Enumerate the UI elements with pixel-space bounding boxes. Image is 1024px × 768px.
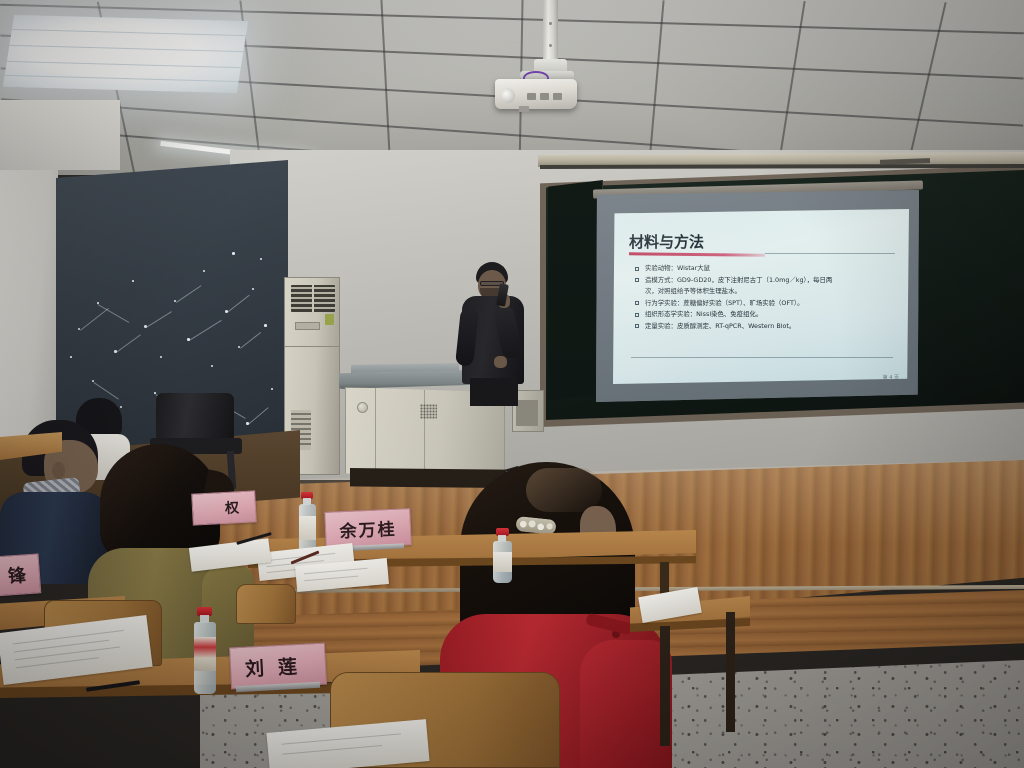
presenter-legs bbox=[470, 378, 518, 406]
placard-name: 刘莲 bbox=[244, 651, 311, 681]
ac-intake-grille bbox=[291, 285, 335, 312]
red-coat-arm bbox=[580, 640, 672, 768]
lecture-room-photo: 材料与方法 实验动物：Wistar大鼠 造模方式：GD9-GD20，皮下注射尼古… bbox=[0, 0, 1024, 768]
ear bbox=[52, 462, 65, 479]
bottle-label bbox=[194, 637, 216, 671]
ac-sticker bbox=[325, 314, 334, 325]
presentation-slide: 材料与方法 实验动物：Wistar大鼠 造模方式：GD9-GD20，皮下注射尼古… bbox=[613, 209, 909, 384]
placard-name: 余万桂 bbox=[339, 515, 397, 542]
lectern-speaker-grille bbox=[420, 404, 437, 419]
ac-display-panel bbox=[295, 322, 320, 330]
presenter-hand-lower bbox=[494, 356, 507, 368]
left-wall-upper bbox=[0, 100, 120, 170]
lectern-knob[interactable] bbox=[357, 402, 368, 413]
projector-lens bbox=[500, 88, 515, 103]
chair-wooden[interactable] bbox=[236, 584, 296, 624]
ceiling-panel-light bbox=[3, 15, 248, 93]
name-placard-feng: 锋 bbox=[0, 553, 41, 598]
name-placard-quan: 权 bbox=[191, 490, 257, 525]
placard-name: 权 bbox=[224, 497, 241, 518]
wall-box bbox=[516, 400, 538, 426]
blackboard-left-leaf bbox=[548, 180, 603, 400]
screen-glare bbox=[613, 209, 909, 384]
placard-name: 锋 bbox=[7, 561, 29, 588]
